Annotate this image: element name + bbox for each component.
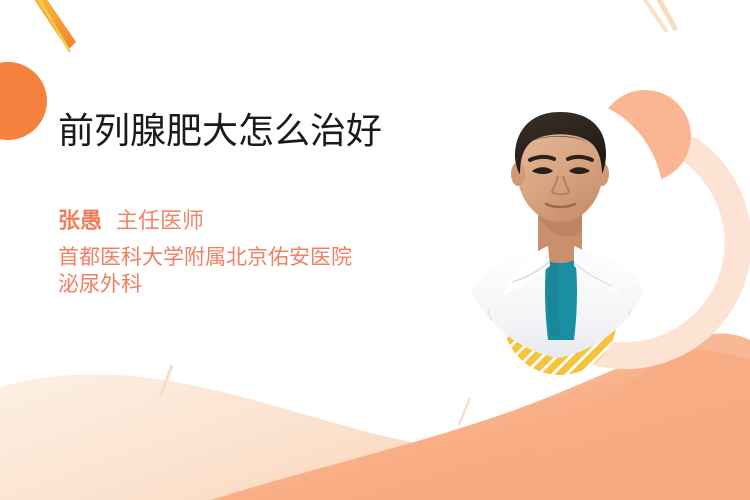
doctor-rank: 主任医师 [116, 208, 204, 234]
stroke-faint-bottomleft [160, 365, 172, 397]
doctor-department: 泌尿外科 [58, 271, 418, 298]
stroke-yellow-topleft [36, 0, 70, 52]
doctor-portrait [452, 96, 664, 364]
stroke-beige-topright-1 [641, 0, 667, 32]
page-title: 前列腺肥大怎么治好 [58, 110, 403, 151]
stroke-orange-topleft [33, 0, 76, 50]
wave-strong-shape [180, 350, 750, 500]
doctor-hospital: 首都医科大学附属北京佑安医院 [58, 244, 398, 271]
wave-light-shape [0, 374, 750, 500]
text-block: 前列腺肥大怎么治好 张愚 主任医师 首都医科大学附属北京佑安医院 泌尿外科 [58, 110, 418, 298]
doctor-name: 张愚 [58, 208, 102, 234]
doctor-identity-line: 张愚 主任医师 [58, 208, 418, 234]
doctor-info-card: 前列腺肥大怎么治好 张愚 主任医师 首都医科大学附属北京佑安医院 泌尿外科 [0, 0, 750, 500]
stroke-faint-bottommid [459, 398, 470, 425]
portrait-illustration [452, 96, 664, 364]
stroke-beige-topright-2 [656, 0, 676, 30]
orange-circle [0, 62, 47, 140]
